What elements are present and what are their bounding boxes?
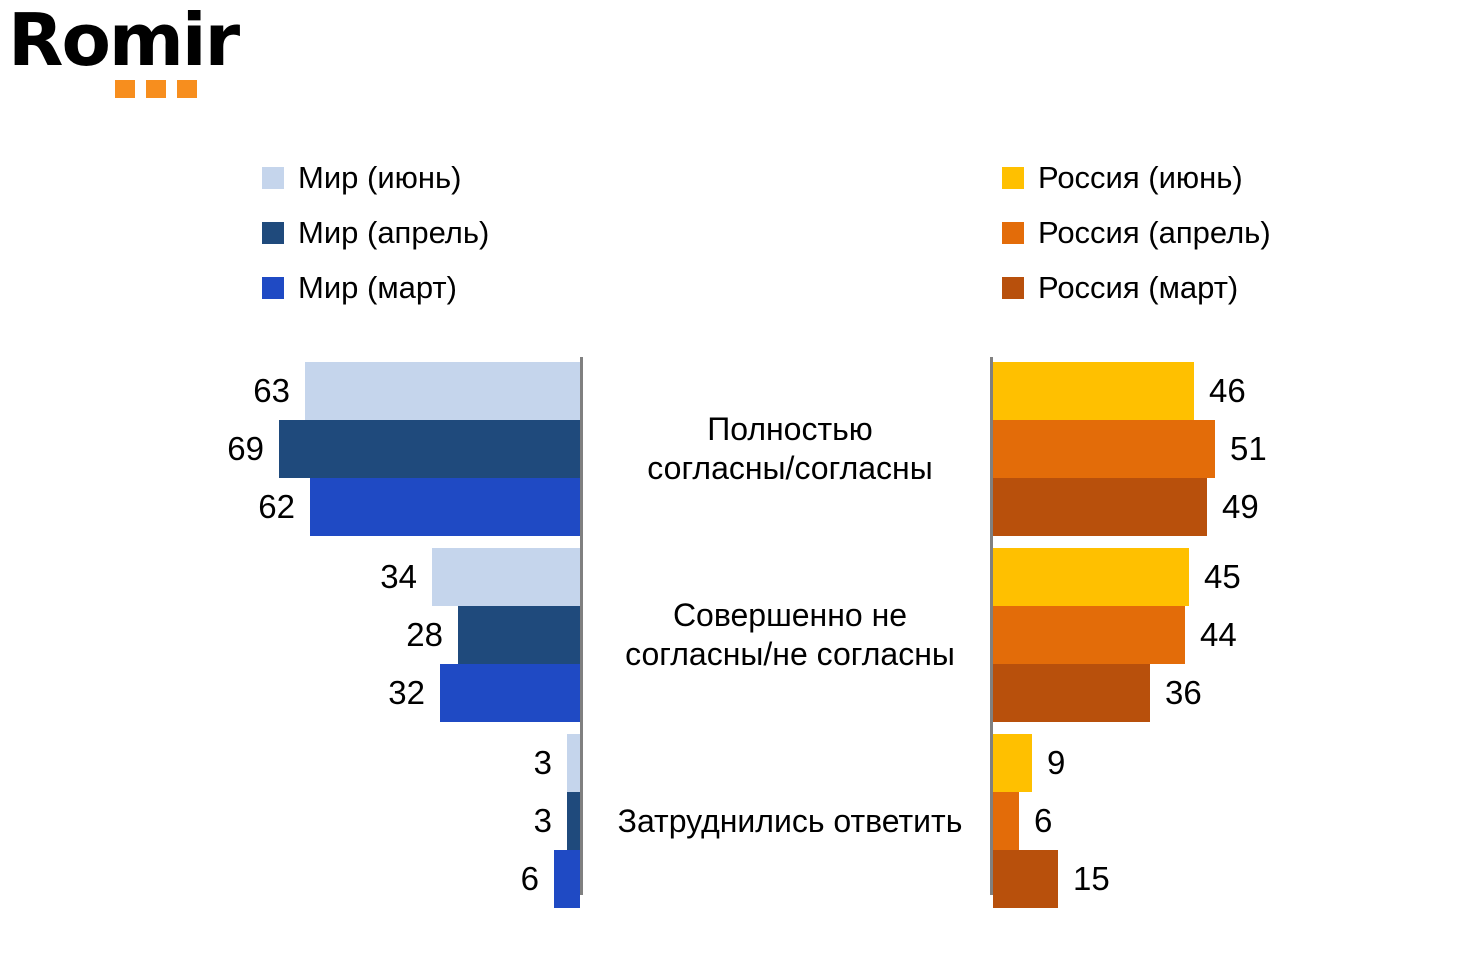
bar-мир-2-2 — [554, 850, 580, 908]
bar-value-label: 28 — [338, 606, 443, 664]
bar-value-label: 69 — [159, 420, 264, 478]
legend-world: Мир (июнь) Мир (апрель) Мир (март) — [262, 150, 489, 315]
legend-item: Мир (март) — [262, 260, 489, 315]
bar-value-label: 46 — [1209, 362, 1314, 420]
bar-value-label: 9 — [1047, 734, 1152, 792]
bar-мир-1-0 — [279, 420, 580, 478]
bar-value-label: 3 — [447, 734, 552, 792]
bar-value-label: 32 — [320, 664, 425, 722]
bar-россия-2-0 — [993, 478, 1207, 536]
bar-россия-2-1 — [993, 664, 1150, 722]
legend-item-label: Мир (июнь) — [298, 162, 461, 193]
bar-chart: 6334369283623264645951446493615 Полность… — [0, 340, 1464, 910]
axis-line-world — [580, 357, 583, 895]
bar-мир-0-2 — [567, 734, 580, 792]
legend-swatch-icon — [1002, 277, 1024, 299]
legend-swatch-icon — [1002, 222, 1024, 244]
legend-item-label: Россия (апрель) — [1038, 217, 1271, 248]
bar-россия-1-0 — [993, 420, 1215, 478]
legend-item: Россия (март) — [1002, 260, 1271, 315]
bar-value-label: 63 — [185, 362, 290, 420]
bar-мир-2-1 — [440, 664, 580, 722]
bar-value-label: 6 — [1034, 792, 1139, 850]
bar-россия-1-2 — [993, 792, 1019, 850]
bar-мир-1-2 — [567, 792, 580, 850]
bar-мир-0-1 — [432, 548, 580, 606]
bar-россия-2-2 — [993, 850, 1058, 908]
legend-swatch-icon — [1002, 167, 1024, 189]
legend-swatch-icon — [262, 222, 284, 244]
bar-россия-1-1 — [993, 606, 1185, 664]
legend-item-label: Россия (март) — [1038, 272, 1238, 303]
logo-dots — [115, 80, 197, 98]
legend-item: Россия (июнь) — [1002, 150, 1271, 205]
logo-dot — [146, 80, 166, 98]
bar-value-label: 3 — [447, 792, 552, 850]
logo-dot — [115, 80, 135, 98]
legend-swatch-icon — [262, 167, 284, 189]
legend-item: Мир (апрель) — [262, 205, 489, 260]
category-label: Затруднились ответить — [592, 802, 988, 841]
bar-value-label: 15 — [1073, 850, 1178, 908]
category-label: Полностью согласны/согласны — [592, 410, 988, 488]
bar-value-label: 45 — [1204, 548, 1309, 606]
bar-value-label: 49 — [1222, 478, 1327, 536]
romir-logo: Romir — [8, 6, 268, 106]
bar-value-label: 6 — [434, 850, 539, 908]
bar-россия-0-0 — [993, 362, 1194, 420]
bar-россия-0-1 — [993, 548, 1189, 606]
bar-value-label: 62 — [190, 478, 295, 536]
legend-swatch-icon — [262, 277, 284, 299]
legend-item-label: Россия (июнь) — [1038, 162, 1243, 193]
legend-item: Россия (апрель) — [1002, 205, 1271, 260]
bar-россия-0-2 — [993, 734, 1032, 792]
bar-value-label: 34 — [312, 548, 417, 606]
bar-value-label: 44 — [1200, 606, 1305, 664]
bar-мир-1-1 — [458, 606, 580, 664]
logo-wordmark: Romir — [8, 4, 238, 76]
bar-value-label: 36 — [1165, 664, 1270, 722]
category-label: Совершенно не согласны/не согласны — [592, 596, 988, 674]
bar-мир-2-0 — [310, 478, 580, 536]
legend-item: Мир (июнь) — [262, 150, 489, 205]
legend-item-label: Мир (март) — [298, 272, 457, 303]
bar-мир-0-0 — [305, 362, 580, 420]
logo-dot — [177, 80, 197, 98]
legend-item-label: Мир (апрель) — [298, 217, 489, 248]
legend-russia: Россия (июнь) Россия (апрель) Россия (ма… — [1002, 150, 1271, 315]
bar-value-label: 51 — [1230, 420, 1335, 478]
